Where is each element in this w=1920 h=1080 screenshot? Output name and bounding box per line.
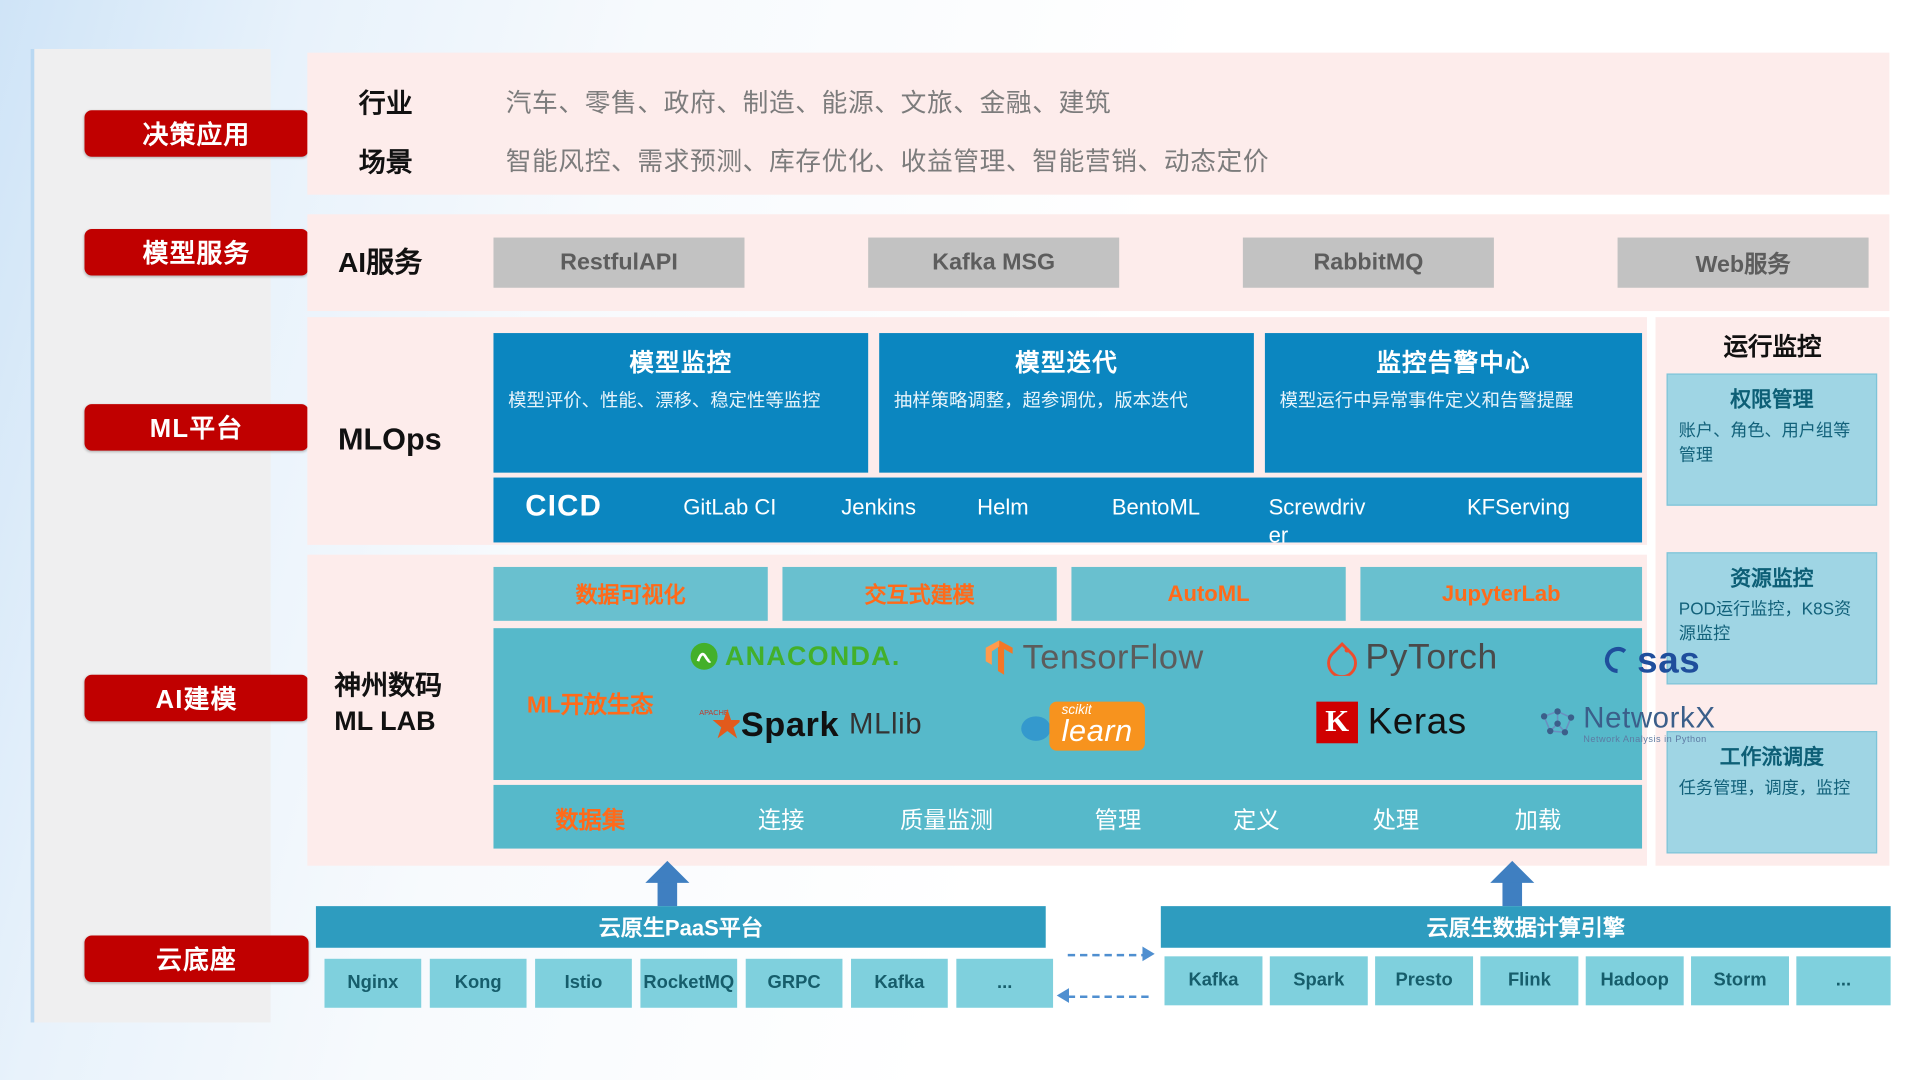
chip-label: Kong <box>455 973 502 993</box>
scenario-value: 智能风控、需求预测、库存优化、收益管理、智能营销、动态定价 <box>506 142 1269 179</box>
dataset-item-quality[interactable]: 质量监测 <box>873 802 1020 835</box>
mlops-panel: MLOps 模型监控 模型评价、性能、漂移、稳定性等监控 模型迭代 抽样策略调整… <box>307 317 1647 545</box>
mllib-wordmark: MLlib <box>849 708 922 742</box>
engine-chip-flink[interactable]: Flink <box>1480 956 1578 1005</box>
engine-chip-spark[interactable]: Spark <box>1270 956 1368 1005</box>
sas-logo[interactable]: sas <box>1602 640 1701 682</box>
anaconda-logo[interactable]: ANACONDA. <box>689 640 900 672</box>
cicd-bar: CICD GitLab CI Jenkins Helm BentoML Scre… <box>493 478 1642 543</box>
dataset-item-label: 加载 <box>1515 808 1562 834</box>
mlops-card-alert-center[interactable]: 监控告警中心 模型运行中异常事件定义和告警提醒 <box>1265 333 1642 473</box>
service-box-web-service[interactable]: Web服务 <box>1618 238 1869 288</box>
apache-spark-mllib-logo[interactable]: APACHE Spark MLlib <box>696 704 923 746</box>
dataset-item-connect[interactable]: 连接 <box>726 802 836 835</box>
pytorch-wordmark: PyTorch <box>1365 638 1498 678</box>
lab-tab-automl[interactable]: AutoML <box>1071 567 1345 621</box>
chip-label: Istio <box>565 973 603 993</box>
card-title: 模型迭代 <box>894 343 1239 379</box>
dataset-item-label: 处理 <box>1373 808 1420 834</box>
engine-chip-storm[interactable]: Storm <box>1691 956 1789 1005</box>
chip-label: Spark <box>1293 971 1344 991</box>
chip-label: Flink <box>1508 971 1551 991</box>
card-title: 模型监控 <box>508 343 853 379</box>
service-box-label: Kafka MSG <box>932 249 1055 276</box>
rail-item-cloud-base[interactable]: 云底座 <box>84 936 308 983</box>
scikit-learn-logo[interactable]: scikit learn <box>1020 702 1145 751</box>
link-engine-to-paas <box>1068 996 1149 998</box>
card-title: 资源监控 <box>1679 561 1865 592</box>
dataset-item-label: 定义 <box>1233 808 1280 834</box>
spark-wordmark: Spark <box>741 705 839 744</box>
chip-label: ... <box>1836 971 1851 991</box>
rail-label: 云底座 <box>156 940 237 977</box>
tensorflow-mark-icon <box>983 639 1015 676</box>
service-box-label: RestfulAPI <box>560 249 678 276</box>
scikit-learn-badge: scikit learn <box>1049 702 1145 751</box>
spark-star-icon: APACHE <box>696 704 740 746</box>
paas-chip-istio[interactable]: Istio <box>535 959 632 1008</box>
architecture-diagram: 决策应用 模型服务 ML平台 AI建模 云底座 行业 汽车、零售、政府、制造、能… <box>0 0 1920 1080</box>
pytorch-mark-icon <box>1326 641 1358 675</box>
cicd-item-label: Jenkins <box>841 495 916 519</box>
dataset-item-label: 连接 <box>758 808 805 834</box>
lab-tab-label: 交互式建模 <box>864 578 974 610</box>
rail-label: ML平台 <box>150 409 243 446</box>
monitoring-card-workflow[interactable]: 工作流调度 任务管理，调度，监控 <box>1667 731 1878 853</box>
ecosystem-label: ML开放生态 <box>511 687 670 720</box>
paas-chip-nginx[interactable]: Nginx <box>324 959 421 1008</box>
dataset-bar: 数据集 连接 质量监测 管理 定义 处理 加载 <box>493 785 1642 849</box>
link-arrow-left-icon <box>1057 988 1069 1003</box>
engine-chip-more[interactable]: ... <box>1796 956 1890 1005</box>
sas-wordmark: sas <box>1637 640 1700 682</box>
ml-open-ecosystem: ML开放生态 ANACONDA. TensorFlow <box>493 628 1642 780</box>
chip-label: Storm <box>1713 971 1766 991</box>
paas-chip-more[interactable]: ... <box>956 959 1053 1008</box>
card-desc: 任务管理，调度，监控 <box>1679 776 1865 800</box>
paas-chip-kong[interactable]: Kong <box>430 959 527 1008</box>
cicd-item-label: Screwdriver <box>1269 495 1366 543</box>
anaconda-mark-icon <box>689 642 718 671</box>
cicd-item-label: KFServing <box>1467 495 1570 519</box>
chip-label: Kafka <box>874 973 924 993</box>
tensorflow-wordmark: TensorFlow <box>1022 638 1203 677</box>
cicd-item-gitlab-ci[interactable]: GitLab CI <box>683 493 788 521</box>
cicd-item-label: Helm <box>977 495 1028 519</box>
chip-label: Kafka <box>1188 971 1238 991</box>
data-engine-arrow-stem <box>1502 879 1522 906</box>
service-box-restful-api[interactable]: RestfulAPI <box>493 238 744 288</box>
paas-arrow-head-icon <box>645 861 689 883</box>
dataset-item-load[interactable]: 加载 <box>1483 802 1593 835</box>
lab-tab-interactive-modeling[interactable]: 交互式建模 <box>782 567 1056 621</box>
cicd-item-jenkins[interactable]: Jenkins <box>841 493 946 521</box>
paas-chip-rocketmq[interactable]: RocketMQ <box>640 959 737 1008</box>
dataset-item-process[interactable]: 处理 <box>1341 802 1451 835</box>
networkx-graph-icon <box>1537 706 1579 743</box>
dataset-item-manage[interactable]: 管理 <box>1063 802 1173 835</box>
networkx-tagline: Network Analysis in Python <box>1583 733 1715 744</box>
link-paas-to-engine <box>1068 954 1149 956</box>
paas-chip-grpc[interactable]: GRPC <box>746 959 843 1008</box>
card-title: 监控告警中心 <box>1280 343 1628 379</box>
cicd-title: CICD <box>525 490 602 524</box>
card-desc: 模型评价、性能、漂移、稳定性等监控 <box>508 388 853 415</box>
cicd-item-helm[interactable]: Helm <box>977 493 1082 521</box>
service-box-label: RabbitMQ <box>1313 249 1423 276</box>
chip-label: RocketMQ <box>643 973 734 993</box>
chip-label: Hadoop <box>1601 971 1669 991</box>
industry-value: 汽车、零售、政府、制造、能源、文旅、金融、建筑 <box>506 83 1112 120</box>
industry-label: 行业 <box>359 82 413 121</box>
networkx-wordmark: NetworkX <box>1583 704 1715 733</box>
paas-bar[interactable]: 云原生PaaS平台 <box>316 906 1046 948</box>
rail-label: 决策应用 <box>143 115 251 152</box>
engine-chip-kafka[interactable]: Kafka <box>1164 956 1262 1005</box>
lab-tab-data-visualization[interactable]: 数据可视化 <box>493 567 767 621</box>
lab-tab-jupyterlab[interactable]: JupyterLab <box>1360 567 1642 621</box>
scikit-learn-wordmark: learn <box>1062 718 1133 747</box>
cicd-item-label: BentoML <box>1112 495 1200 519</box>
scenario-label: 场景 <box>359 141 413 180</box>
mlops-card-model-iteration[interactable]: 模型迭代 抽样策略调整，超参调优，版本迭代 <box>879 333 1254 473</box>
svg-text:APACHE: APACHE <box>699 708 729 717</box>
ml-lab-label: 神州数码 ML LAB <box>334 669 481 739</box>
chip-label: Nginx <box>347 973 398 993</box>
paas-title: 云原生PaaS平台 <box>599 911 763 943</box>
data-engine-bar[interactable]: 云原生数据计算引擎 <box>1161 906 1891 948</box>
ml-lab-panel: 神州数码 ML LAB 数据可视化 交互式建模 AutoML JupyterLa… <box>307 555 1647 866</box>
mlops-card-model-monitoring[interactable]: 模型监控 模型评价、性能、漂移、稳定性等监控 <box>493 333 868 473</box>
card-desc: POD运行监控，K8S资源监控 <box>1679 598 1865 646</box>
paas-chip-kafka[interactable]: Kafka <box>851 959 948 1008</box>
tensorflow-logo[interactable]: TensorFlow <box>983 638 1204 677</box>
dataset-item-label: 管理 <box>1095 808 1142 834</box>
anaconda-wordmark: ANACONDA. <box>725 640 901 672</box>
card-desc: 模型运行中异常事件定义和告警提醒 <box>1280 388 1628 415</box>
chip-label: GRPC <box>768 973 821 993</box>
rail-item-decision-app[interactable]: 决策应用 <box>84 110 308 157</box>
dataset-item-label: 质量监测 <box>900 808 993 834</box>
data-engine-arrow-head-icon <box>1490 861 1534 883</box>
rail-label: 模型服务 <box>143 234 251 271</box>
rail-label: AI建模 <box>156 680 238 717</box>
keras-logo[interactable]: K Keras <box>1316 702 1466 744</box>
engine-chip-hadoop[interactable]: Hadoop <box>1586 956 1684 1005</box>
dataset-label: 数据集 <box>511 802 670 835</box>
sas-mark-icon <box>1602 645 1635 678</box>
monitoring-panel: 运行监控 权限管理 账户、角色、用户组等管理 资源监控 POD运行监控，K8S资… <box>1656 317 1890 866</box>
card-title: 权限管理 <box>1679 382 1865 413</box>
rail-item-ai-modeling[interactable]: AI建模 <box>84 675 308 722</box>
monitoring-title: 运行监控 <box>1656 327 1890 363</box>
networkx-logo[interactable]: NetworkX Network Analysis in Python <box>1537 704 1716 744</box>
link-arrow-right-icon <box>1142 947 1154 962</box>
lab-tab-label: 数据可视化 <box>576 578 686 610</box>
layer-rail: 决策应用 模型服务 ML平台 AI建模 云底座 <box>31 49 271 1022</box>
service-box-kafka-msg[interactable]: Kafka MSG <box>868 238 1119 288</box>
monitoring-card-permission[interactable]: 权限管理 账户、角色、用户组等管理 <box>1667 373 1878 505</box>
keras-wordmark: Keras <box>1368 702 1467 744</box>
data-engine-title: 云原生数据计算引擎 <box>1427 911 1625 943</box>
card-desc: 账户、角色、用户组等管理 <box>1679 419 1865 467</box>
decision-app-panel: 行业 汽车、零售、政府、制造、能源、文旅、金融、建筑 场景 智能风控、需求预测、… <box>307 53 1889 195</box>
service-box-label: Web服务 <box>1695 246 1790 279</box>
ai-service-label: AI服务 <box>338 246 422 280</box>
mlops-label: MLOps <box>338 421 442 458</box>
dataset-item-define[interactable]: 定义 <box>1201 802 1311 835</box>
ml-lab-label-line2: ML LAB <box>334 704 481 739</box>
ai-service-panel: AI服务 RestfulAPI Kafka MSG RabbitMQ Web服务 <box>307 214 1889 311</box>
rail-item-ml-platform[interactable]: ML平台 <box>84 404 308 451</box>
card-desc: 抽样策略调整，超参调优，版本迭代 <box>894 388 1239 415</box>
lab-tab-label: AutoML <box>1168 581 1250 607</box>
cicd-item-bentoml[interactable]: BentoML <box>1112 493 1217 521</box>
engine-chip-presto[interactable]: Presto <box>1375 956 1473 1005</box>
cicd-item-screwdriver[interactable]: Screwdriver <box>1269 493 1374 542</box>
chip-label: ... <box>997 973 1012 993</box>
lab-tab-label: JupyterLab <box>1442 581 1561 607</box>
keras-mark-icon: K <box>1316 702 1358 744</box>
cicd-item-label: GitLab CI <box>683 495 776 519</box>
cicd-item-kfserving[interactable]: KFServing <box>1467 493 1572 521</box>
rail-item-model-service[interactable]: 模型服务 <box>84 229 308 276</box>
service-box-rabbitmq[interactable]: RabbitMQ <box>1243 238 1494 288</box>
chip-label: Presto <box>1396 971 1453 991</box>
ml-lab-label-line1: 神州数码 <box>334 669 481 704</box>
paas-arrow-stem <box>658 879 678 906</box>
pytorch-logo[interactable]: PyTorch <box>1326 638 1498 678</box>
